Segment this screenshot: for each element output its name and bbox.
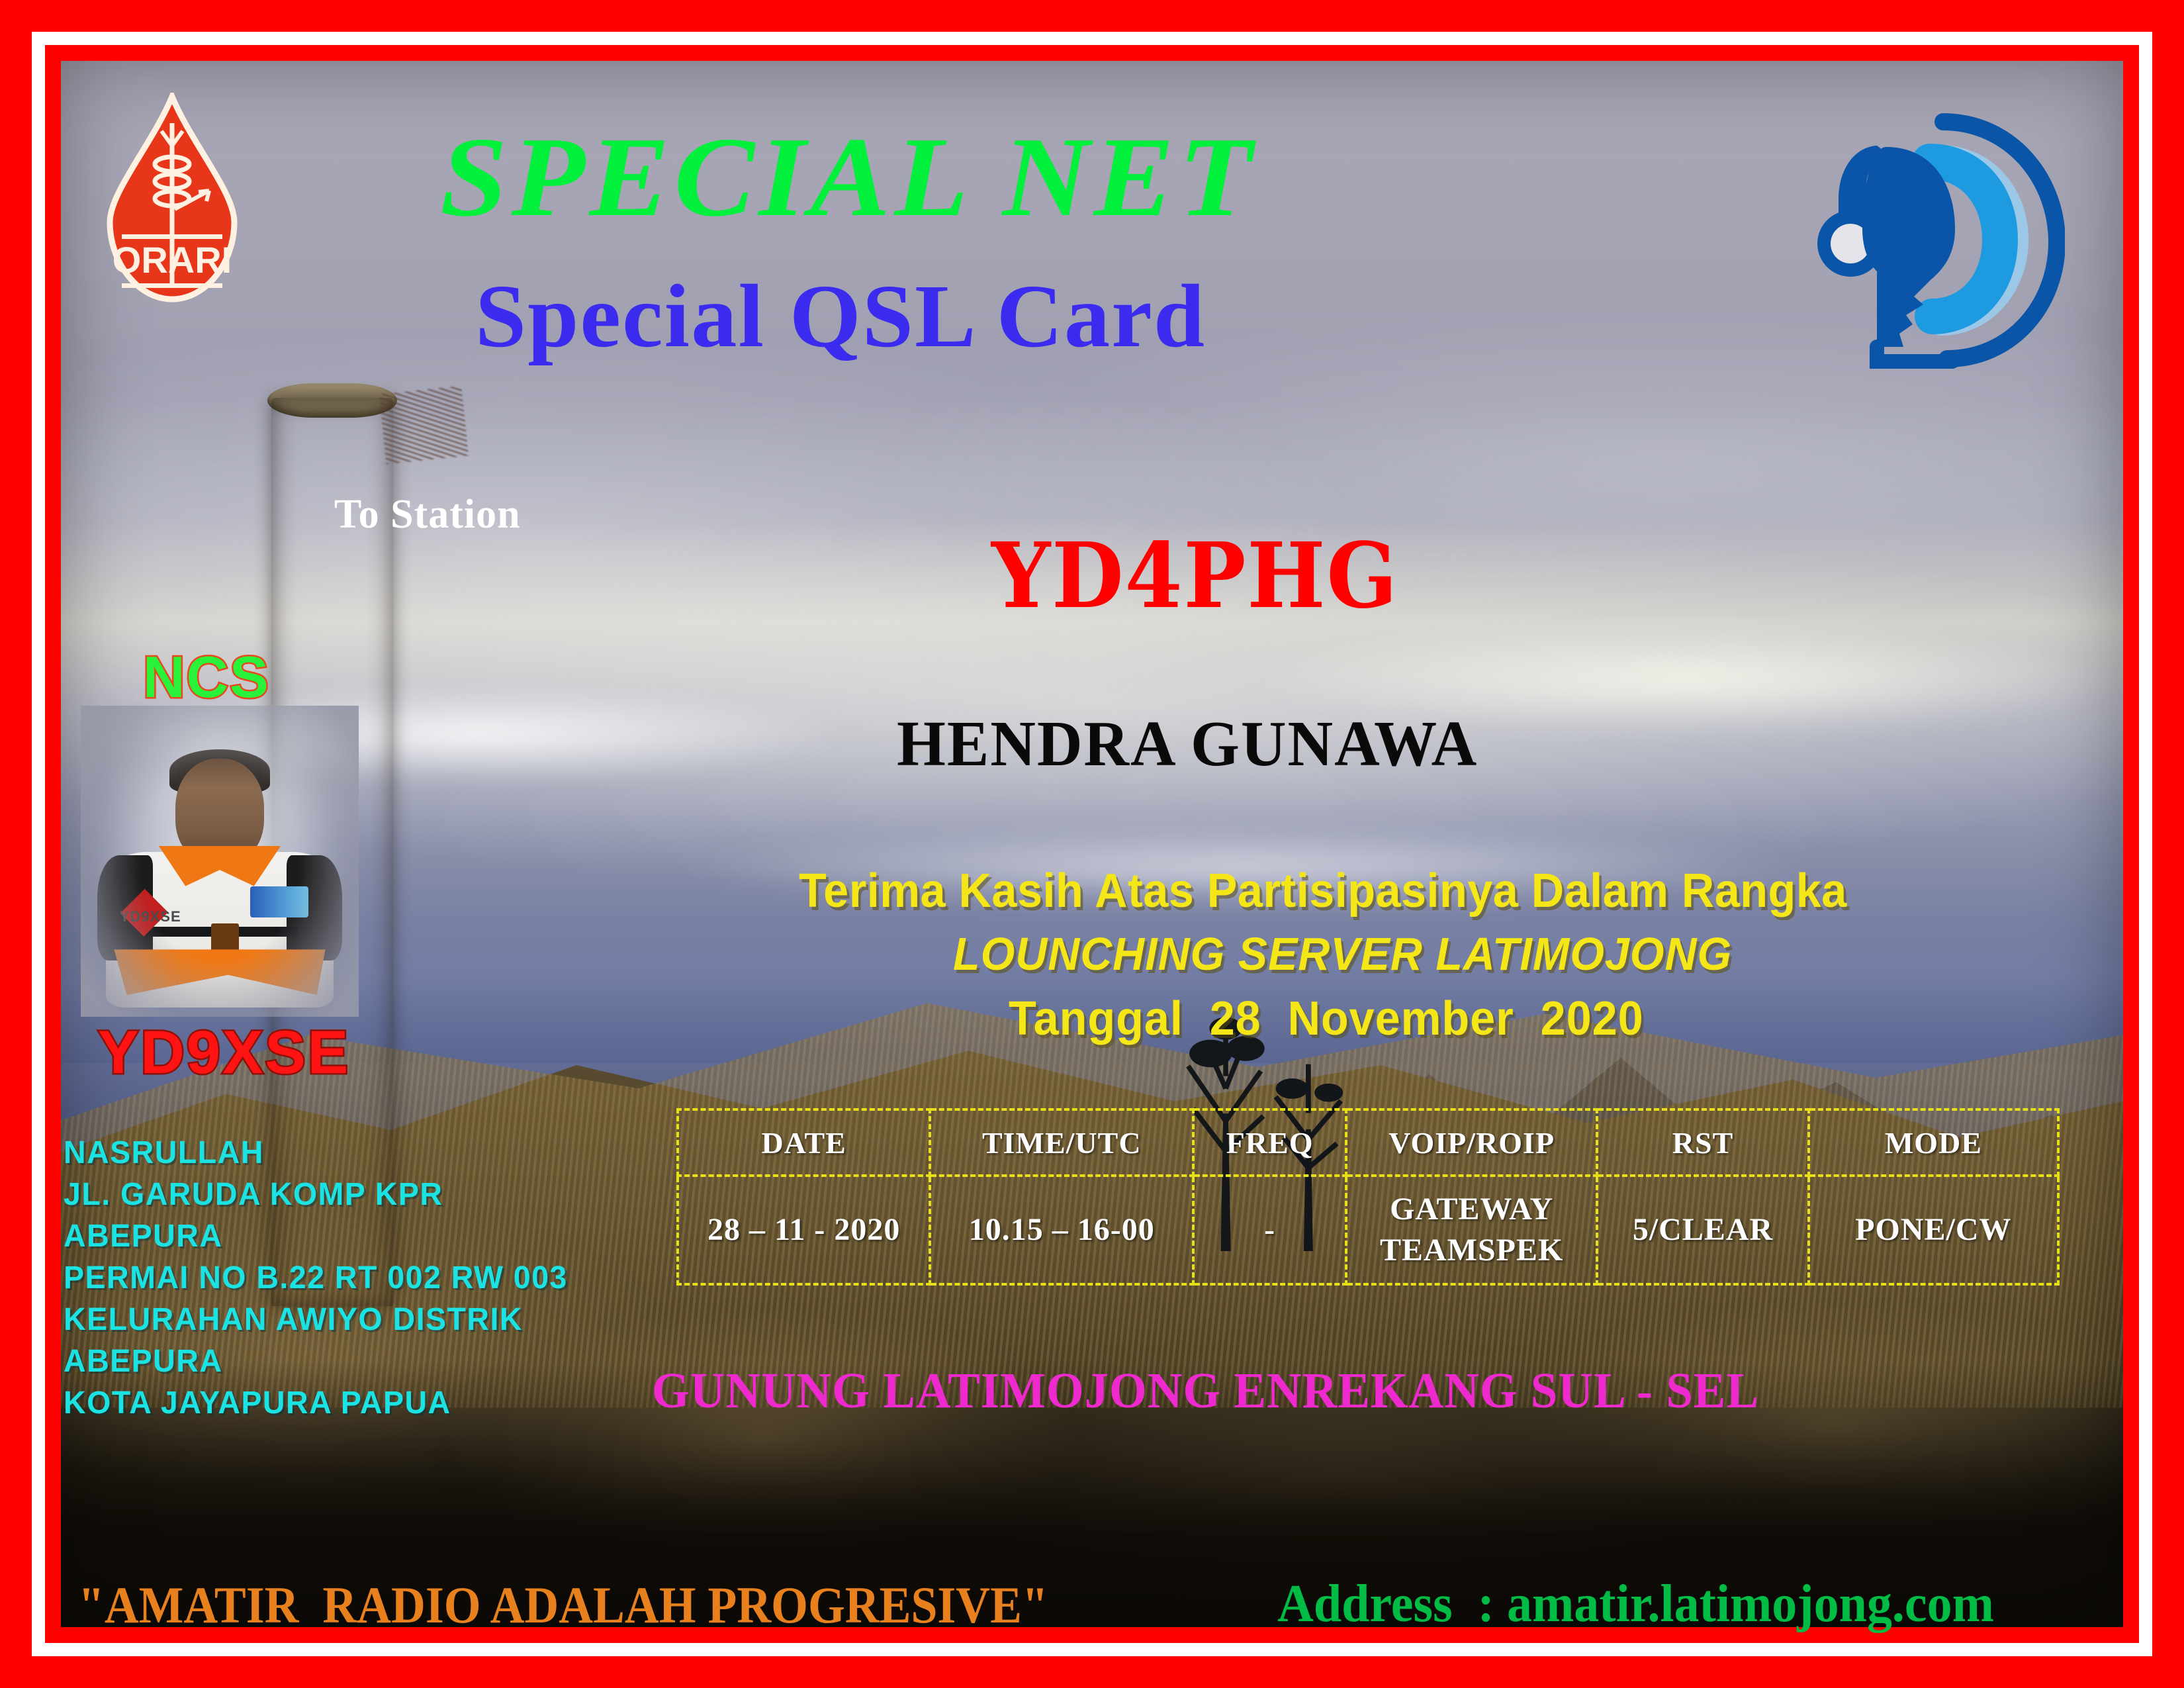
table-cell-freq: -: [1193, 1176, 1346, 1284]
return-address-block: NASRULLAH JL. GARUDA KOMP KPR ABEPURA PE…: [64, 1132, 583, 1424]
to-station-label: To Station: [334, 491, 521, 538]
table-cell-rst: 5/CLEAR: [1597, 1176, 1808, 1284]
table-header-row: DATE TIME/UTC FREQ VOIP/ROIP RST MODE: [678, 1109, 2058, 1176]
address-line: JL. GARUDA KOMP KPR: [64, 1174, 568, 1215]
address-line: NASRULLAH: [64, 1132, 568, 1174]
table-cell-voip: GATEWAY TEAMSPEK: [1346, 1176, 1597, 1284]
address-line: PERMAI NO B.22 RT 002 RW 003: [64, 1257, 568, 1299]
qsl-card: ORARI SPECIAL NET Special QSL Card To St…: [0, 0, 2184, 1688]
table-cell-time: 10.15 – 16-00: [930, 1176, 1193, 1284]
table-header-voip: VOIP/ROIP: [1346, 1109, 1597, 1176]
table-cell-date: 28 – 11 - 2020: [678, 1176, 930, 1284]
address-line: ABEPURA: [64, 1340, 568, 1382]
orari-logo: ORARI: [93, 93, 251, 305]
ncs-operator-photo: YD9XSE: [81, 706, 359, 1017]
portrait-oval-vignette: [81, 706, 359, 1017]
address-line: ABEPURA: [64, 1215, 568, 1257]
footer-slogan: "AMATIR RADIO ADALAH PROGRESIVE": [78, 1575, 1048, 1635]
qso-details-table: DATE TIME/UTC FREQ VOIP/ROIP RST MODE 28…: [676, 1108, 2060, 1286]
footer-web-address: Address : amatir.latimojong.com: [1277, 1574, 1994, 1634]
thanks-line: Terima Kasih Atas Partisipasinya Dalam R…: [799, 864, 1847, 918]
location-line: GUNUNG LATIMOJONG ENREKANG SUL - SEL: [652, 1362, 1759, 1420]
operator-name: HENDRA GUNAWA: [897, 707, 1478, 781]
headset-profile-logo: [1813, 106, 2065, 371]
page-subtitle: Special QSL Card: [475, 265, 1206, 368]
orari-wordmark: ORARI: [113, 239, 232, 281]
station-callsign: YD4PHG: [991, 523, 1398, 629]
table-header-rst: RST: [1597, 1109, 1808, 1176]
table-header-date: DATE: [678, 1109, 930, 1176]
table-header-mode: MODE: [1809, 1109, 2058, 1176]
ncs-label: NCS: [143, 643, 270, 711]
ncs-callsign: YD9XSE: [98, 1018, 350, 1088]
table-row: 28 – 11 - 2020 10.15 – 16-00 - GATEWAY T…: [678, 1176, 2058, 1284]
page-title: SPECIAL NET: [440, 113, 1256, 243]
address-line: KELURAHAN AWIYO DISTRIK: [64, 1299, 568, 1340]
event-date: Tanggal 28 November 2020: [1009, 992, 1644, 1046]
address-line: KOTA JAYAPURA PAPUA: [64, 1382, 568, 1424]
content-layer: ORARI SPECIAL NET Special QSL Card To St…: [0, 0, 2184, 1688]
table-header-freq: FREQ: [1193, 1109, 1346, 1176]
event-name: LOUNCHING SERVER LATIMOJONG: [953, 927, 1732, 980]
table-header-time: TIME/UTC: [930, 1109, 1193, 1176]
table-cell-mode: PONE/CW: [1809, 1176, 2058, 1284]
